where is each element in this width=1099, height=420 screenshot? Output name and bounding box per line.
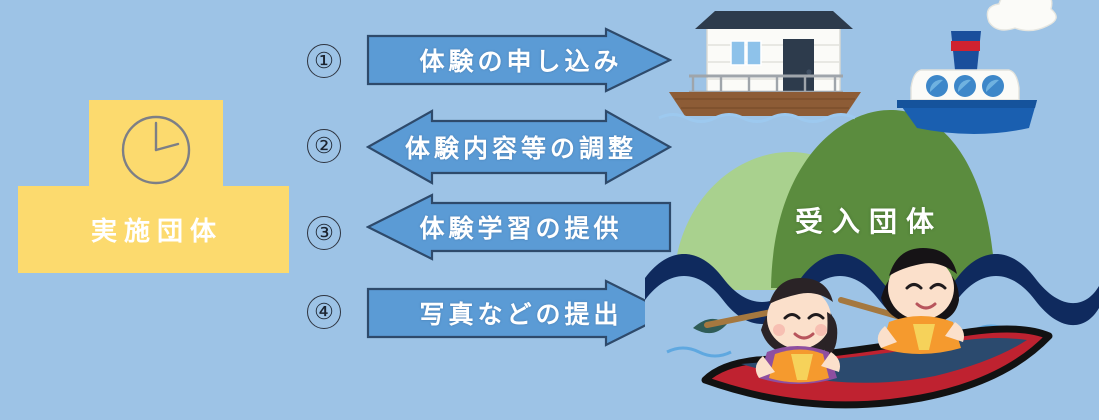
step-arrow-3: 体験学習の提供 [366,192,672,262]
step-number-2: ② [307,129,341,163]
implementing-org-label: 実施団体 [18,186,289,273]
step-arrow-1: 体験の申し込み [366,27,672,93]
diagram-canvas: 実施団体 ① ② ③ ④ 体験の申し込み 体験内容等の調整 体験学習の提供 写真… [0,0,1099,420]
step-arrow-2: 体験内容等の調整 [366,107,672,187]
step-number-1: ① [307,44,341,78]
host-org-label: 受入団体 [786,200,943,240]
houseboat-illustration [659,11,861,122]
step-number-4: ④ [307,295,341,329]
step-number-3: ③ [307,216,341,250]
clock-icon [119,113,193,187]
ferry-ship-illustration [897,0,1056,134]
step-arrow-4: 写真などの提出 [366,279,672,347]
